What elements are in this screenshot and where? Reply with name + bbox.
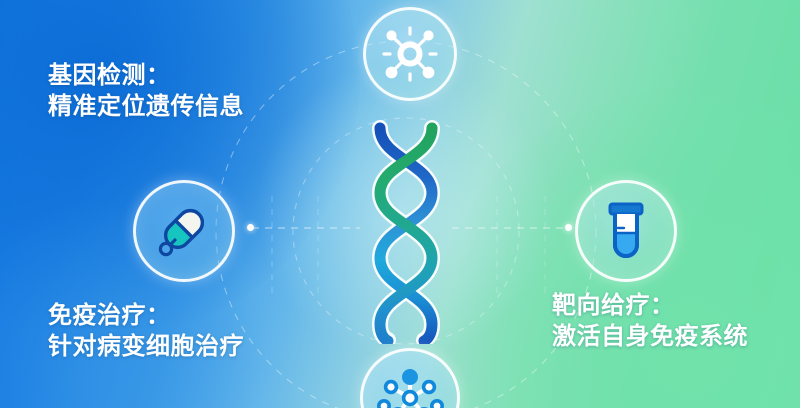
caption-gene-detection: 基因检测： 精准定位遗传信息: [48, 60, 244, 122]
connector-dot-right: [565, 224, 572, 231]
capsule-pill-icon: [149, 196, 219, 266]
caption-targeted-therapy: 靶向给疗： 激活自身免疫系统: [552, 290, 748, 352]
icon-badge-right[interactable]: [575, 180, 677, 282]
caption-targeted-therapy-line1: 靶向给疗：: [552, 290, 748, 321]
caption-targeted-therapy-line2: 激活自身免疫系统: [552, 321, 748, 352]
caption-immunotherapy: 免疫治疗： 针对病变细胞治疗: [48, 300, 244, 362]
dna-double-helix: [352, 118, 460, 344]
caption-immunotherapy-line2: 针对病变细胞治疗: [48, 331, 244, 362]
connector-dot-left: [247, 224, 254, 231]
poster-canvas: 基因检测： 精准定位遗传信息 免疫治疗： 针对病变细胞治疗 靶向给疗： 激活自身…: [0, 0, 800, 408]
icon-badge-left[interactable]: [133, 180, 235, 282]
icon-badge-top[interactable]: [363, 7, 457, 101]
caption-immunotherapy-line1: 免疫治疗：: [48, 300, 244, 331]
network-nodes-icon: [374, 362, 446, 408]
molecule-cell-icon: [379, 23, 441, 85]
test-tube-icon: [594, 199, 658, 263]
caption-gene-detection-line2: 精准定位遗传信息: [48, 91, 244, 122]
caption-gene-detection-line1: 基因检测：: [48, 60, 244, 91]
